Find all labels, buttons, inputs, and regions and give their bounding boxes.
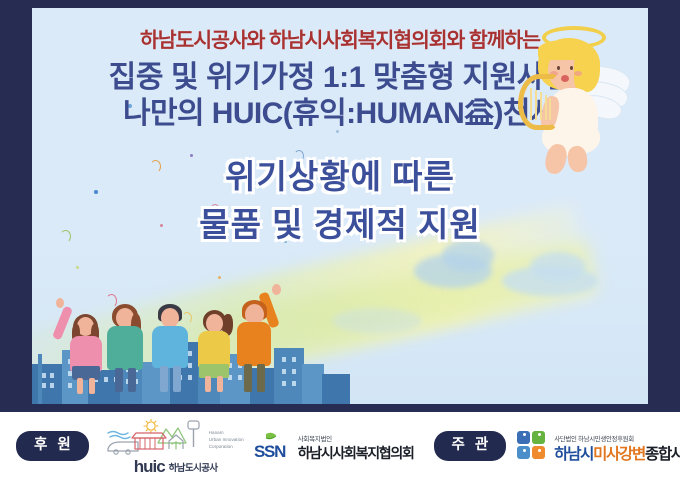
cheek-shape: [574, 71, 582, 76]
confetti-dot: [218, 276, 221, 279]
organizer-badge: 주 관: [434, 431, 507, 461]
misa-name-part1: 하남시: [554, 446, 593, 463]
person-figure: [192, 294, 236, 392]
cloud-icon-4: [530, 252, 586, 282]
mouth-shape: [561, 75, 569, 82]
poster-canvas: 하남도시공사와 하남시사회복지협의회와 함께하는 집중 및 위기가정 1:1 맞…: [32, 8, 648, 404]
poster-headline-line2: 물품 및 경제적 지원: [32, 203, 648, 247]
ssn-text-block: 사회복지법인 하남시사회복지협의회: [298, 437, 414, 461]
eye-shape: [570, 66, 573, 70]
logo-huic: Hanam Urban Innovation Corporation huic …: [102, 418, 242, 474]
puzzle-icon: [517, 430, 549, 462]
confetti-dot: [76, 266, 79, 269]
huic-korean-name: 하남도시공사: [169, 464, 218, 476]
person-figure: [102, 292, 148, 392]
poster-root: 하남도시공사와 하남시사회복지협의회와 함께하는 집중 및 위기가정 1:1 맞…: [0, 0, 680, 480]
hair-shape: [538, 40, 590, 60]
ssn-name: 하남시사회복지협의회: [298, 446, 414, 460]
people-group-illustration: [50, 280, 285, 392]
huic-logotype: huic: [134, 458, 165, 475]
misa-text-block: 사단법인 하남시민생안정후원회 하남시미사강변종합사회복지관: [554, 437, 680, 462]
sponsor-footer-bar: 후 원: [0, 412, 680, 480]
misa-name: 하남시미사강변종합사회복지관: [554, 447, 680, 463]
ssn-prefix: 사회복지법인: [298, 437, 414, 444]
sponsor-badge: 후 원: [16, 431, 89, 461]
huic-english-name: Hanam Urban Innovation Corporation: [209, 430, 244, 451]
misa-prefix: 사단법인 하남시민생안정후원회: [554, 437, 680, 443]
huic-wordmark: huic 하남도시공사: [134, 458, 218, 475]
logo-ssn: SSN 사회복지법인 하남시사회복지협의회: [254, 432, 414, 460]
svg-text:SSN: SSN: [254, 442, 286, 460]
misa-name-part2: 미사강변: [593, 446, 645, 463]
person-figure: [234, 290, 282, 392]
harp-icon: [518, 74, 558, 130]
angel-illustration: [512, 22, 630, 182]
eye-shape: [557, 66, 560, 70]
huic-logo-artwork: [106, 419, 224, 455]
logo-misa-welfare-center: 사단법인 하남시민생안정후원회 하남시미사강변종합사회복지관: [517, 430, 680, 462]
person-figure: [147, 292, 193, 392]
ssn-mark: SSN: [254, 432, 294, 460]
misa-name-part3: 종합사회복지관: [645, 446, 680, 463]
poster-headline-line1: 위기상황에 따른: [225, 158, 455, 195]
